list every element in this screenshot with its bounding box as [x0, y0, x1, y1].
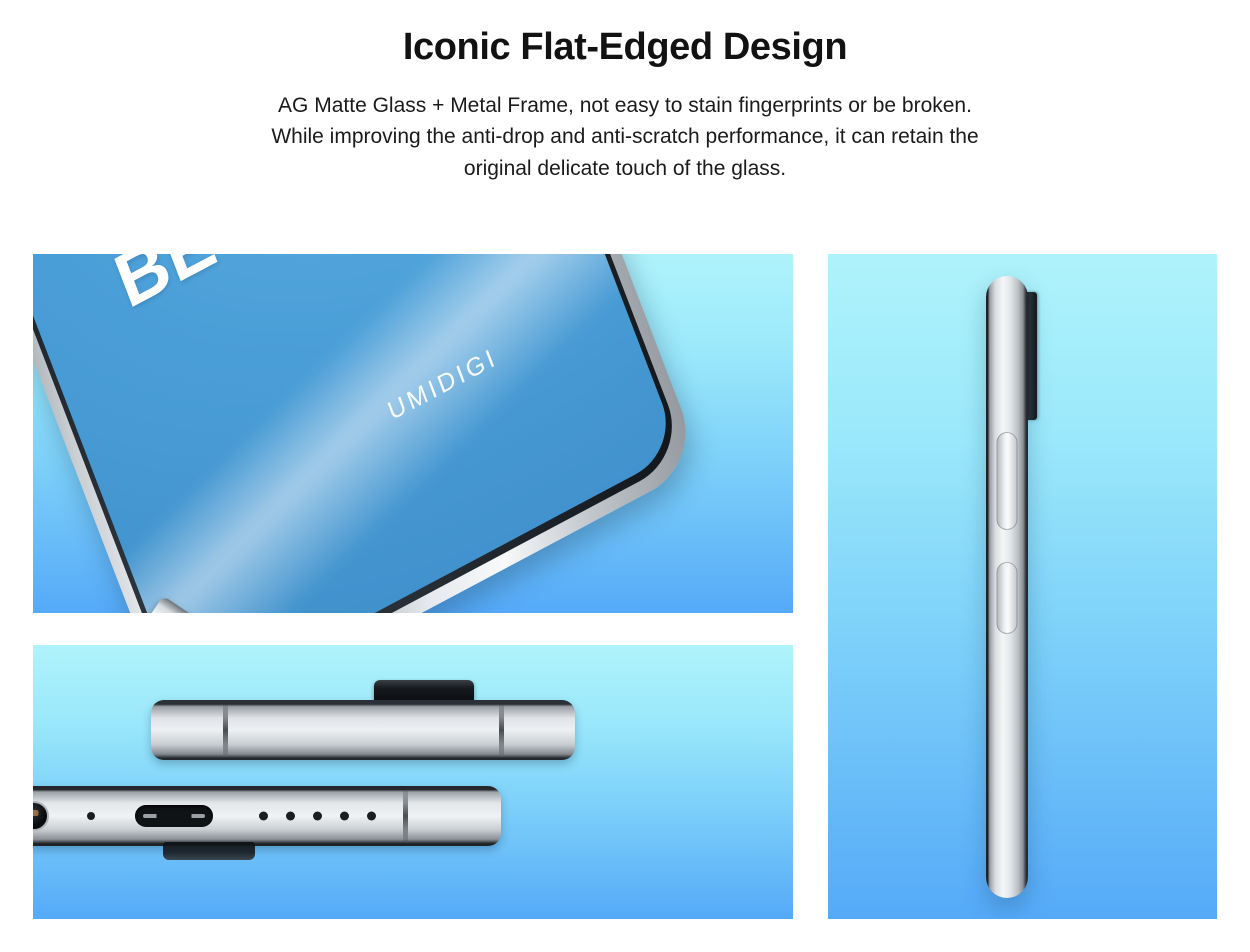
- power-button: [997, 432, 1018, 530]
- product-photo-phone-edges: [33, 645, 793, 919]
- antenna-seam-line: [499, 705, 504, 755]
- antenna-seam-line: [223, 705, 228, 755]
- phone-bottom-edge-body: [33, 786, 501, 846]
- speaker-hole-icon: [367, 812, 376, 821]
- volume-button: [997, 562, 1018, 634]
- page-subheading: AG Matte Glass + Metal Frame, not easy t…: [0, 90, 1250, 186]
- hero-stage: BEYOND UMIDIGI: [33, 254, 793, 613]
- page-title: Iconic Flat-Edged Design: [0, 24, 1250, 72]
- phone-bottom-edge: [33, 786, 501, 846]
- product-photo-phone-side-profile: [828, 254, 1217, 919]
- headphone-jack-icon: [33, 801, 49, 831]
- speaker-hole-icon: [313, 812, 322, 821]
- phone-side-render: [986, 276, 1028, 898]
- camera-module-icon: [163, 842, 255, 860]
- phone-top-edge: [151, 700, 575, 760]
- screen-brand-umidigi: UMIDIGI: [384, 343, 501, 427]
- speaker-hole-icon: [259, 812, 268, 821]
- phone-top-edge-body: [151, 700, 575, 760]
- usb-c-port-icon: [135, 805, 213, 827]
- product-photo-phone-corner: BEYOND UMIDIGI: [33, 254, 793, 613]
- phone-corner-render: BEYOND UMIDIGI: [33, 254, 680, 613]
- phone-screen: BEYOND UMIDIGI: [33, 254, 680, 613]
- page-header: Iconic Flat-Edged Design AG Matte Glass …: [0, 0, 1250, 185]
- microphone-hole-icon: [87, 812, 95, 820]
- subheading-line-2: While improving the anti-drop and anti-s…: [0, 121, 1250, 153]
- speaker-hole-icon: [286, 812, 295, 821]
- product-image-gallery: BEYOND UMIDIGI: [0, 254, 1250, 919]
- antenna-seam-line: [403, 791, 408, 841]
- subheading-line-3: original delicate touch of the glass.: [0, 153, 1250, 185]
- subheading-line-1: AG Matte Glass + Metal Frame, not easy t…: [0, 90, 1250, 122]
- speaker-hole-icon: [340, 812, 349, 821]
- screen-wordmark-beyond: BEYOND: [104, 254, 420, 325]
- edges-stage: [33, 645, 793, 919]
- side-stage: [828, 254, 1217, 919]
